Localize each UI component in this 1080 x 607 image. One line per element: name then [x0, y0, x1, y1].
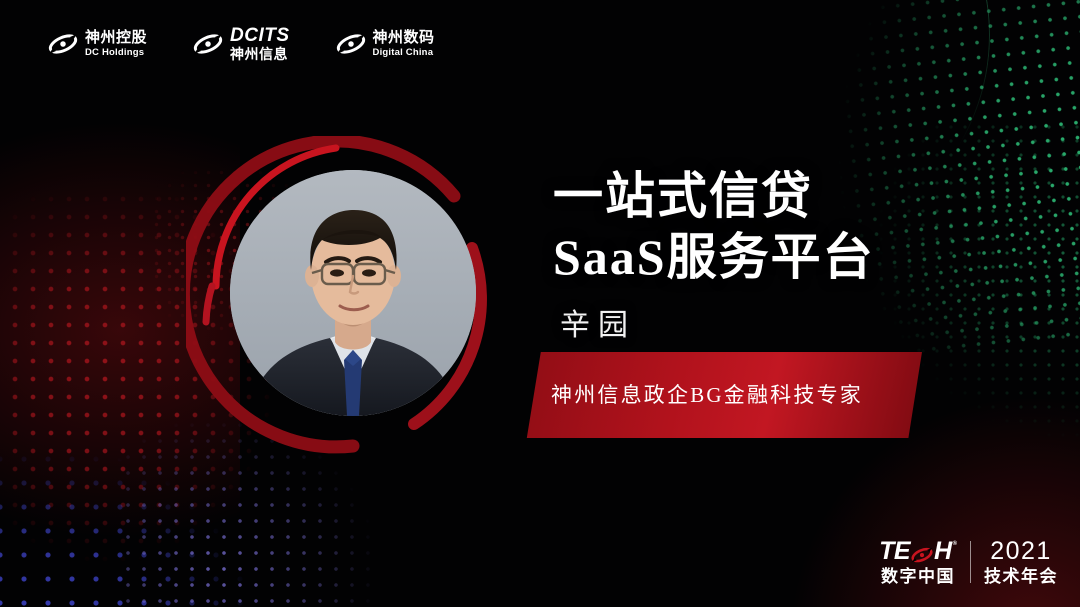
logo-dc-holdings-en: DC Holdings [85, 48, 147, 58]
logo-dc-holdings-text: 神州控股 DC Holdings [85, 30, 147, 58]
event-tech-wordmark: TE H ® [879, 539, 957, 564]
speaker-name: 辛园 [560, 300, 636, 344]
brand-logo-bar: 神州控股 DC Holdings DCITS 神州信息 [48, 26, 435, 61]
dcits-swirl-icon [193, 33, 223, 55]
logo-digital-china-en: Digital China [373, 48, 435, 58]
dcits-swirl-icon [48, 33, 78, 55]
speaker-avatar [230, 170, 476, 416]
logo-dcits-text: DCITS 神州信息 [230, 26, 290, 61]
presentation-slide: 神州控股 DC Holdings DCITS 神州信息 [0, 0, 1080, 607]
event-lockup-divider [970, 541, 971, 583]
title-line-1: 一站式信贷 [553, 166, 875, 227]
logo-dc-holdings-cn: 神州控股 [85, 30, 147, 45]
event-tech-trademark: ® [953, 541, 957, 547]
logo-dcits: DCITS 神州信息 [193, 26, 290, 61]
dcits-swirl-icon [336, 33, 366, 55]
event-tech-cn: 数字中国 [881, 568, 955, 585]
logo-digital-china-cn: 神州数码 [373, 30, 435, 45]
title-line-2: SaaS服务平台 [553, 227, 875, 288]
logo-dcits-en: DCITS [230, 26, 290, 45]
event-year-block: 2021 技术年会 [984, 539, 1058, 585]
dcits-swirl-icon [911, 543, 933, 560]
logo-dcits-cn: 神州信息 [230, 47, 290, 61]
speaker-portrait-block [186, 136, 498, 466]
logo-digital-china: 神州数码 Digital China [336, 30, 435, 58]
speaker-role-text: 神州信息政企BG金融科技专家 [551, 379, 863, 409]
logo-dc-holdings: 神州控股 DC Holdings [48, 30, 147, 58]
event-tech-post: H [934, 539, 952, 564]
event-tech-logo: TE H ® 数字中国 [879, 539, 957, 585]
event-year-cn: 技术年会 [984, 568, 1058, 585]
event-tech-pre: TE [879, 539, 910, 564]
slide-title: 一站式信贷 SaaS服务平台 [553, 166, 875, 288]
event-year: 2021 [990, 539, 1052, 564]
event-logo-lockup: TE H ® 数字中国 2021 技术年会 [879, 539, 1058, 585]
logo-digital-china-text: 神州数码 Digital China [373, 30, 435, 58]
